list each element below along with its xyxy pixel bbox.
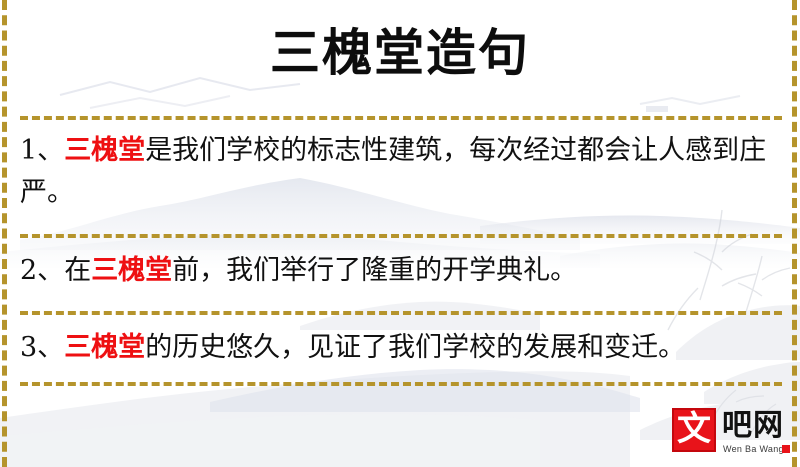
list-item: 1、三槐堂是我们学校的标志性建筑，每次经过都会让人感到庄严。 [20, 130, 780, 214]
sentence-text-after: 的历史悠久，见证了我们学校的发展和变迁。 [145, 332, 685, 363]
sentence-text-before: 在 [64, 255, 91, 286]
sentence-index: 3、 [20, 332, 64, 363]
sentence-index: 2、 [20, 255, 64, 286]
logo-seal-icon: 文 [672, 408, 716, 452]
separator-line [20, 382, 782, 386]
sentence-index: 1、 [20, 135, 64, 166]
list-item: 2、在三槐堂前，我们举行了隆重的开学典礼。 [20, 250, 780, 292]
worksheet-page: 三槐堂造句 1、三槐堂是我们学校的标志性建筑，每次经过都会让人感到庄严。 2、在… [0, 0, 800, 467]
list-item: 3、三槐堂的历史悠久，见证了我们学校的发展和变迁。 [20, 327, 780, 369]
keyword-highlight: 三槐堂 [64, 135, 145, 166]
keyword-highlight: 三槐堂 [64, 332, 145, 363]
separator-line [20, 234, 782, 238]
logo-name-pinyin: Wen Ba Wang [723, 444, 784, 455]
logo-seal-character: 文 [677, 412, 711, 446]
left-dashed-border [2, 0, 7, 467]
keyword-highlight: 三槐堂 [91, 255, 172, 286]
logo-name-cn: 吧网 [722, 410, 784, 442]
sentence-text-after: 前，我们举行了隆重的开学典礼。 [172, 255, 577, 286]
separator-line [20, 311, 782, 315]
page-title: 三槐堂造句 [0, 22, 800, 84]
right-dashed-border [792, 0, 797, 467]
logo-red-square-icon [782, 445, 790, 453]
separator-line [20, 116, 782, 120]
site-logo[interactable]: 文 吧网 Wen Ba Wang [672, 408, 790, 458]
